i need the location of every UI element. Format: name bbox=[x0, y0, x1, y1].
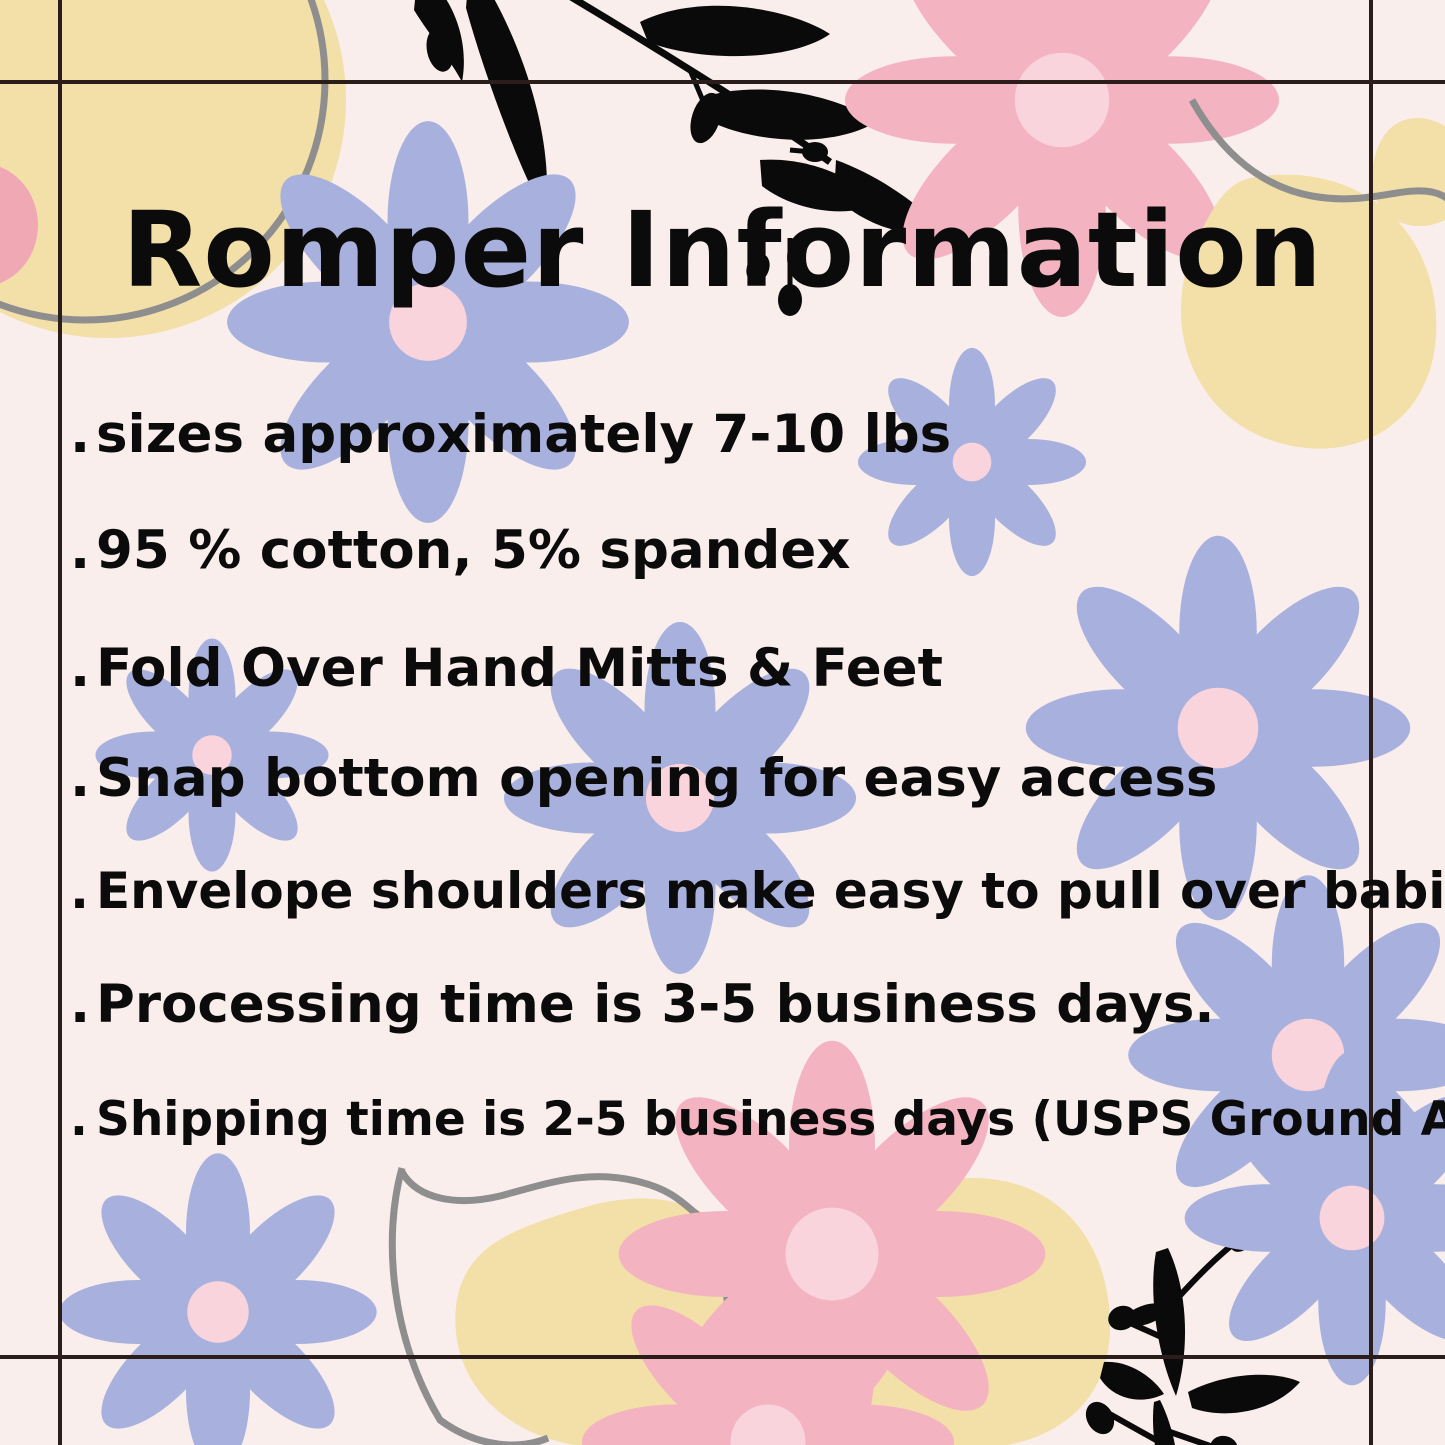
list-item: . sizes approximately 7-10 lbs bbox=[70, 404, 1410, 520]
bullet-marker-icon: . bbox=[70, 748, 96, 809]
bullet-marker-icon: . bbox=[70, 862, 96, 920]
list-item-label: Envelope shoulders make easy to pull ove… bbox=[96, 862, 1445, 920]
list-item-label: 95 % cotton, 5% spandex bbox=[96, 520, 850, 581]
list-item: . Processing time is 3-5 business days. bbox=[70, 974, 1410, 1092]
list-item: . Envelope shoulders make easy to pull o… bbox=[70, 862, 1410, 974]
bullet-marker-icon: . bbox=[70, 404, 96, 465]
list-item: . Snap bottom opening for easy access bbox=[70, 748, 1410, 862]
bullet-marker-icon: . bbox=[70, 520, 96, 581]
list-item: . Fold Over Hand Mitts & Feet bbox=[70, 638, 1410, 748]
list-item-label: Shipping time is 2-5 business days (USPS… bbox=[96, 1092, 1445, 1147]
bullet-marker-icon: . bbox=[70, 638, 96, 699]
romper-information-list: . sizes approximately 7-10 lbs . 95 % co… bbox=[70, 404, 1410, 1172]
list-item: . 95 % cotton, 5% spandex bbox=[70, 520, 1410, 638]
list-item-label: sizes approximately 7-10 lbs bbox=[96, 404, 951, 465]
page-title: Romper Information bbox=[0, 196, 1445, 305]
list-item-label: Fold Over Hand Mitts & Feet bbox=[96, 638, 943, 699]
bullet-marker-icon: . bbox=[70, 974, 96, 1035]
list-item-label: Snap bottom opening for easy access bbox=[96, 748, 1217, 809]
list-item: . Shipping time is 2-5 business days (US… bbox=[70, 1092, 1410, 1172]
poster-canvas: Romper Information . sizes approximately… bbox=[0, 0, 1445, 1445]
bullet-marker-icon: . bbox=[70, 1092, 96, 1147]
list-item-label: Processing time is 3-5 business days. bbox=[96, 974, 1215, 1035]
